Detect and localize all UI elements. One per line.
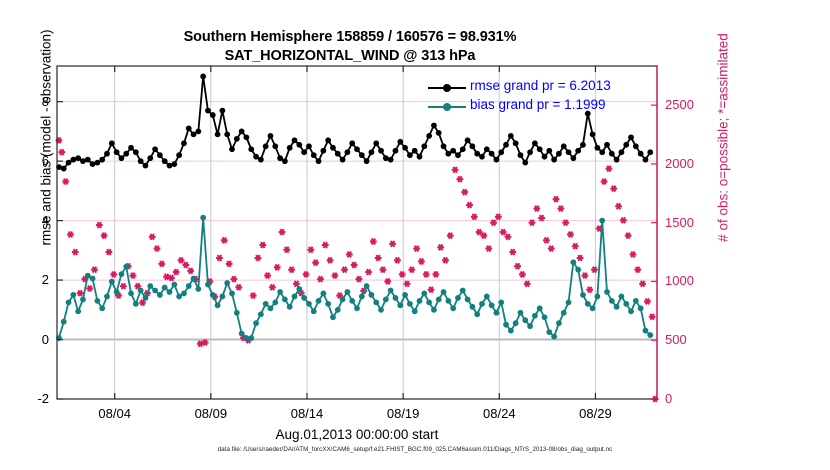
y-tick-right-2500: 2500 bbox=[665, 97, 715, 112]
x-tick-08-19: 08/19 bbox=[373, 406, 433, 421]
y-tick-right-1500: 1500 bbox=[665, 215, 715, 230]
x-tick-08-29: 08/29 bbox=[565, 406, 625, 421]
y-tick-left-0: 0 bbox=[9, 332, 49, 347]
x-tick-08-04: 08/04 bbox=[85, 406, 145, 421]
y-tick-left-4: 4 bbox=[9, 213, 49, 228]
data-file-footer: data file: /Users/raeder/DAI/ATM_forcXX/… bbox=[0, 446, 830, 453]
legend-label-bias: bias grand pr = 1.1999 bbox=[470, 97, 605, 112]
legend-line-sample-bias bbox=[428, 106, 466, 108]
legend-item-bias[interactable]: bias grand pr = 1.1999 bbox=[428, 97, 640, 116]
legend-label-rmse: rmse grand pr = 6.2013 bbox=[470, 78, 611, 93]
x-tick-08-24: 08/24 bbox=[469, 406, 529, 421]
chart-legend: rmse grand pr = 6.2013 bias grand pr = 1… bbox=[428, 78, 640, 118]
y-tick-left--2: -2 bbox=[9, 391, 49, 406]
figure-canvas: Southern Hemisphere 158859 / 160576 = 98… bbox=[0, 0, 830, 470]
obs-markers bbox=[56, 137, 659, 401]
legend-line-sample-rmse bbox=[428, 87, 466, 89]
x-tick-08-09: 08/09 bbox=[181, 406, 241, 421]
y-tick-right-2000: 2000 bbox=[665, 156, 715, 171]
y-tick-right-0: 0 bbox=[665, 391, 715, 406]
y-tick-left-2: 2 bbox=[9, 272, 49, 287]
y-tick-right-1000: 1000 bbox=[665, 273, 715, 288]
y-tick-left-8: 8 bbox=[9, 94, 49, 109]
y-tick-left-6: 6 bbox=[9, 153, 49, 168]
y-tick-right-500: 500 bbox=[665, 332, 715, 347]
legend-item-rmse[interactable]: rmse grand pr = 6.2013 bbox=[428, 78, 640, 97]
x-tick-08-14: 08/14 bbox=[277, 406, 337, 421]
